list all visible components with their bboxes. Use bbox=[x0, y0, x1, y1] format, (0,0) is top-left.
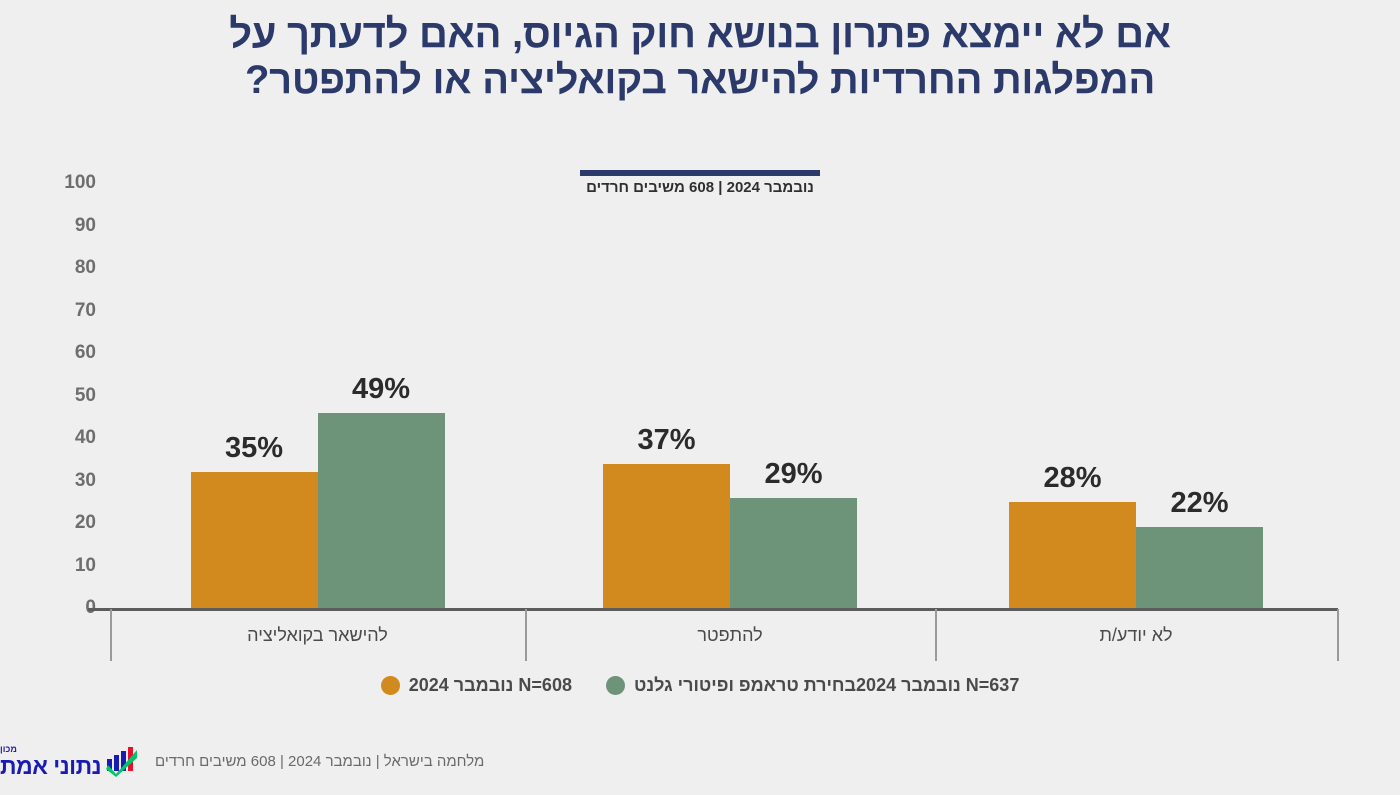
subtitle-rule bbox=[580, 170, 820, 176]
y-tick-label: 80 bbox=[75, 257, 96, 279]
category-label-3: לא יודע/ת bbox=[1099, 625, 1172, 646]
category-label-2: להתפטר bbox=[697, 625, 762, 646]
y-tick-label: 70 bbox=[75, 300, 96, 322]
orange-dot-icon bbox=[381, 676, 400, 695]
y-tick-label: 90 bbox=[75, 215, 96, 237]
y-axis-labels: 0102030405060708090100 bbox=[0, 183, 96, 608]
title-block: אם לא יימצא פתרון בנושא חוק הגיוס, האם ל… bbox=[0, 12, 1400, 103]
category-separator bbox=[1337, 609, 1339, 661]
category-separator bbox=[935, 609, 937, 661]
bar-orange-1[interactable] bbox=[191, 472, 318, 608]
bar-value-label: 35% bbox=[225, 432, 283, 465]
plot-area: 35%49%37%29%28%22% bbox=[110, 183, 1337, 608]
logo-title: נתוני אמת bbox=[0, 755, 101, 778]
bar-green-3[interactable] bbox=[1136, 527, 1263, 608]
category-label-1: להישאר בקואליציה bbox=[247, 625, 388, 646]
footer-note: מלחמה בישראל | נובמבר 2024 | 608 משיבים … bbox=[155, 753, 484, 770]
bar-green-1[interactable] bbox=[318, 413, 445, 609]
footer: מכון נתוני אמת מלחמה בישראל | נובמבר 202… bbox=[0, 745, 1400, 778]
bar-value-label: 22% bbox=[1170, 487, 1228, 520]
logo-text-group: מכון נתוני אמת bbox=[0, 745, 101, 778]
green-dot-icon bbox=[606, 676, 625, 695]
legend-label: N=637 נובמבר 2024בחירת טראמפ ופיטורי גלנ… bbox=[634, 675, 1019, 696]
category-separator bbox=[525, 609, 527, 661]
legend-item-1[interactable]: N=608 נובמבר 2024 bbox=[381, 675, 572, 696]
bar-orange-3[interactable] bbox=[1009, 502, 1136, 608]
legend-item-2[interactable]: N=637 נובמבר 2024בחירת טראמפ ופיטורי גלנ… bbox=[606, 675, 1019, 696]
bar-value-label: 28% bbox=[1043, 462, 1101, 495]
category-separator bbox=[110, 609, 112, 661]
y-tick-label: 50 bbox=[75, 385, 96, 407]
y-tick-label: 10 bbox=[75, 555, 96, 577]
bar-value-label: 37% bbox=[637, 424, 695, 457]
y-tick-label: 100 bbox=[64, 172, 96, 194]
x-axis-line bbox=[88, 608, 1338, 611]
brand-logo: מכון נתוני אמת bbox=[0, 745, 139, 778]
y-tick-label: 60 bbox=[75, 342, 96, 364]
y-tick-label: 20 bbox=[75, 512, 96, 534]
chart-legend: N=608 נובמבר 2024N=637 נובמבר 2024בחירת … bbox=[0, 675, 1400, 696]
bar-orange-2[interactable] bbox=[603, 464, 730, 609]
bar-chart-check-icon bbox=[105, 747, 139, 777]
bar-value-label: 49% bbox=[352, 373, 410, 406]
y-tick-label: 40 bbox=[75, 427, 96, 449]
legend-label: N=608 נובמבר 2024 bbox=[409, 675, 572, 696]
bar-green-2[interactable] bbox=[730, 498, 857, 609]
bar-value-label: 29% bbox=[764, 458, 822, 491]
page-title: אם לא יימצא פתרון בנושא חוק הגיוס, האם ל… bbox=[0, 12, 1400, 103]
y-tick-label: 30 bbox=[75, 470, 96, 492]
